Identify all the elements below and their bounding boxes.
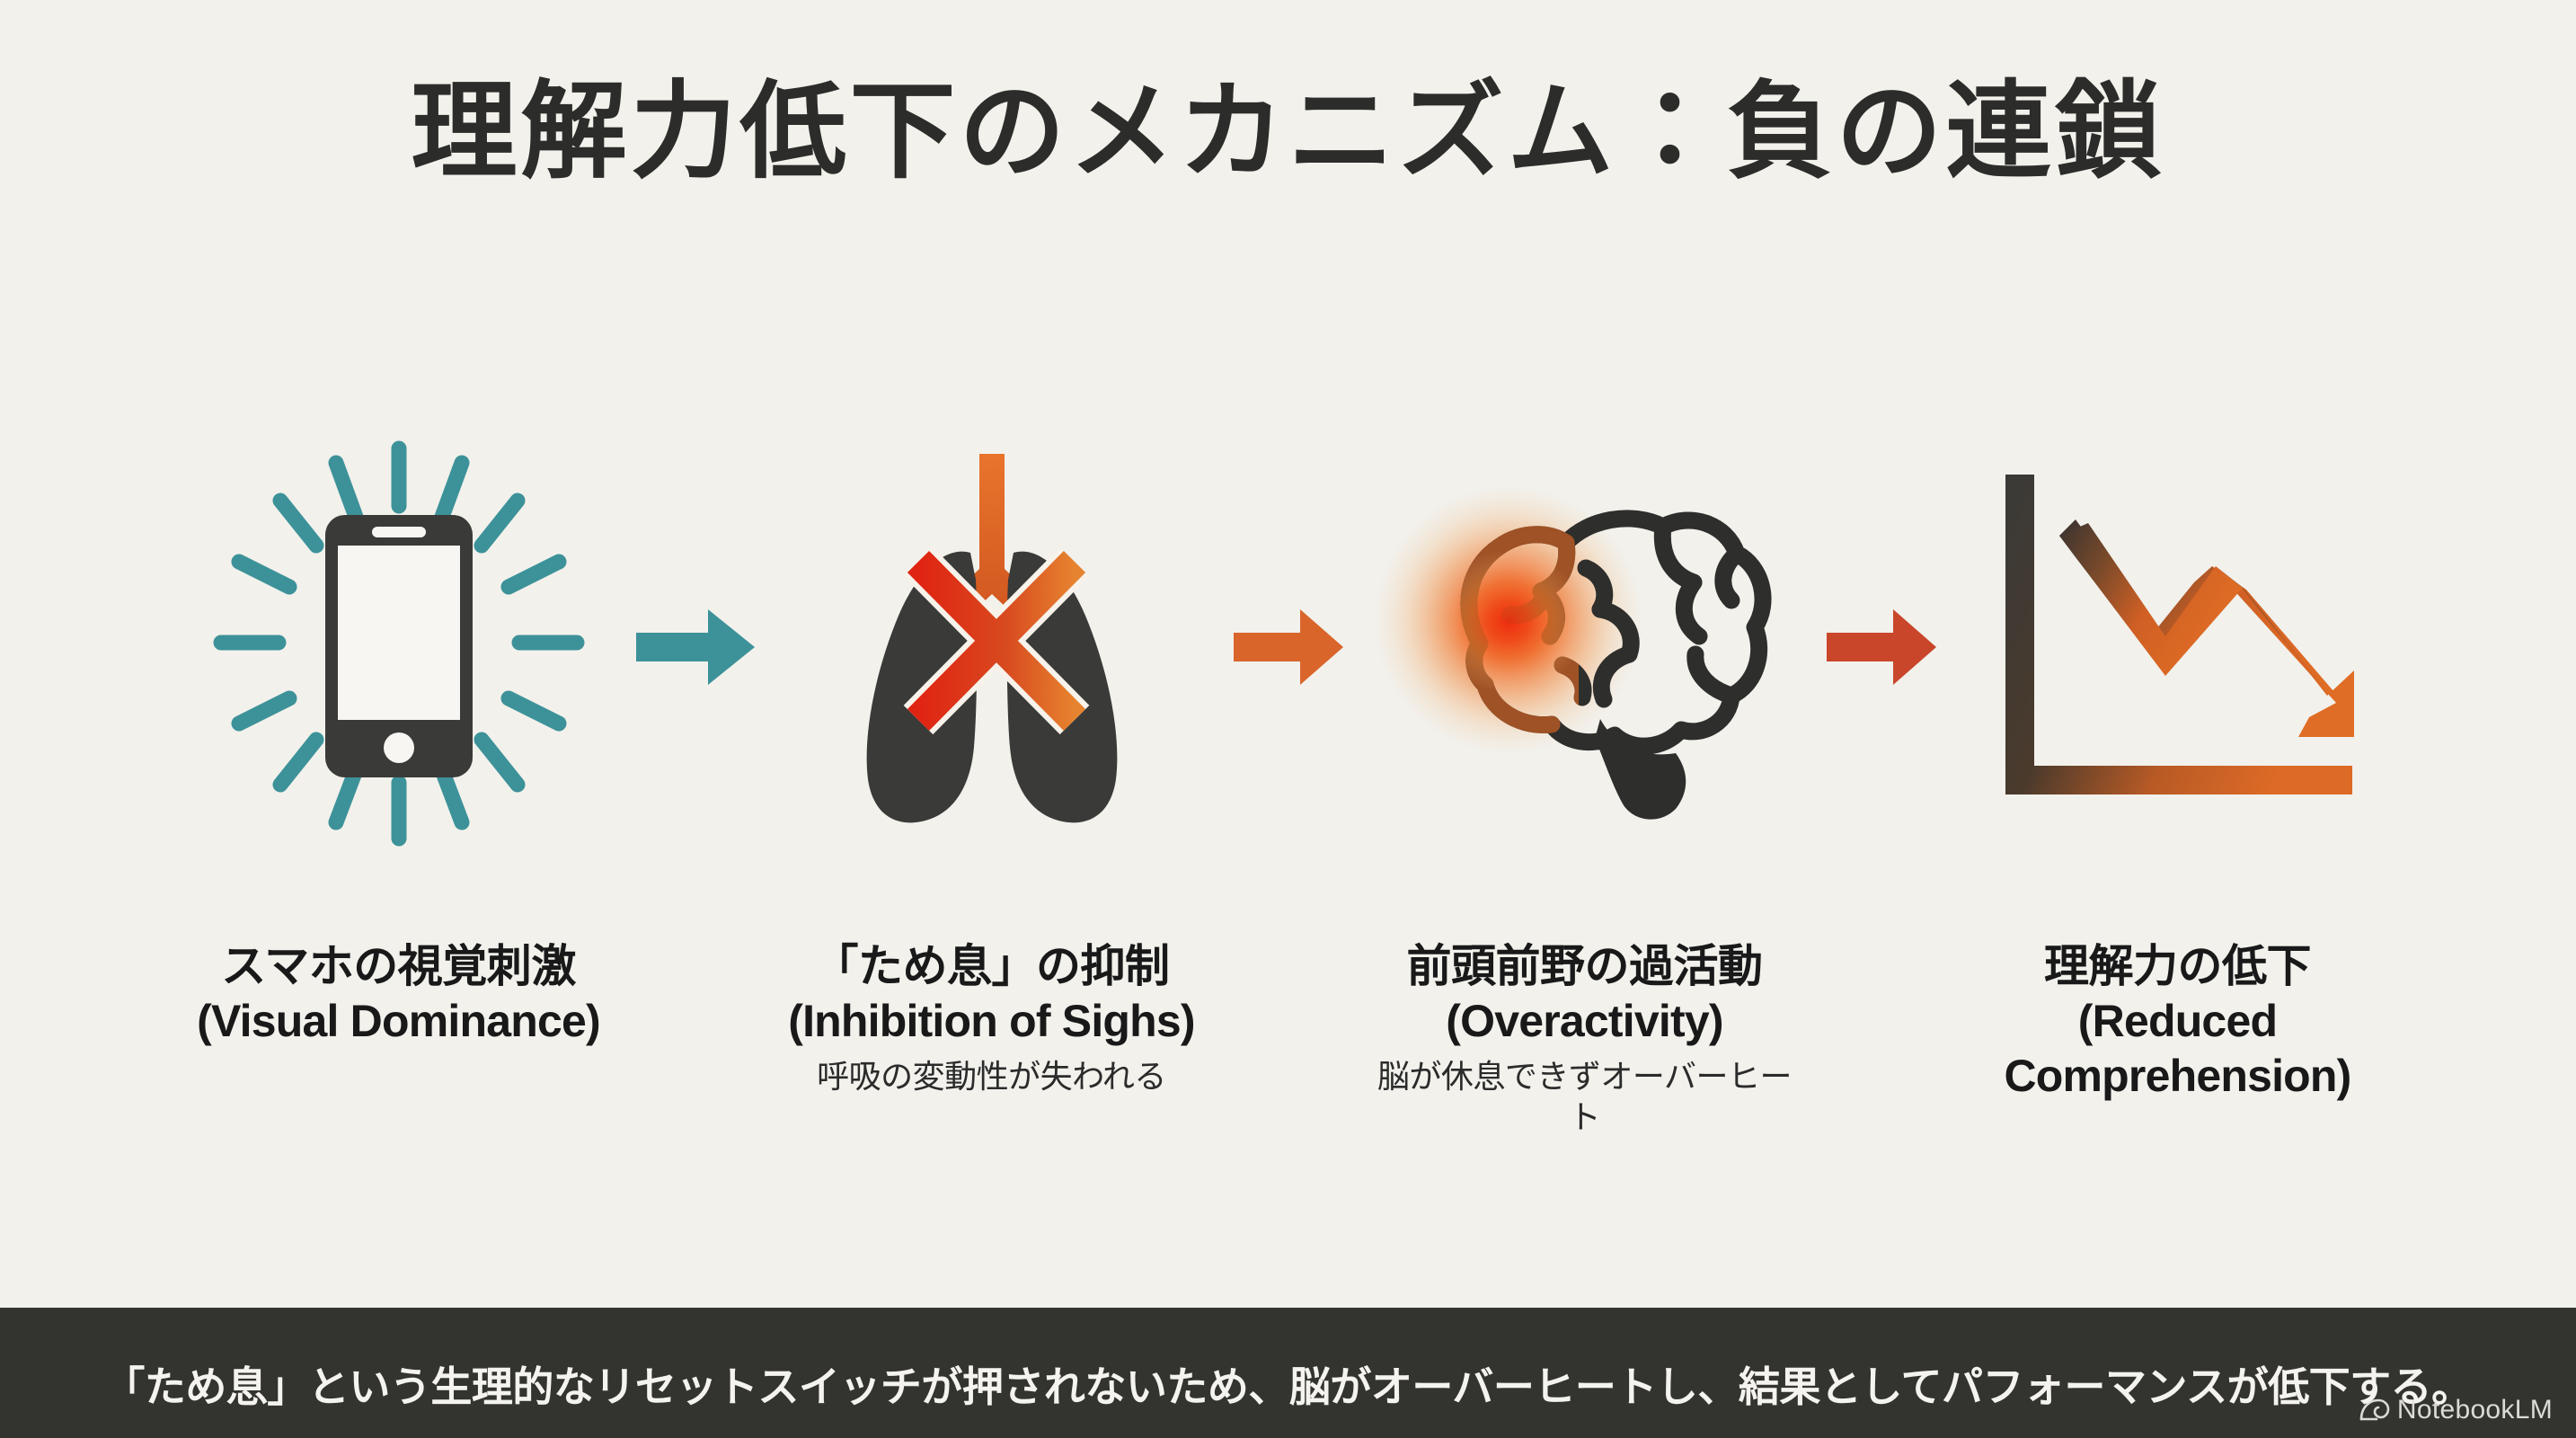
footer-bar: 「ため息」という生理的なリセットスイッチが押されないため、脳がオーバーヒートし、… <box>0 1308 2576 1438</box>
page-title: 理解力低下のメカニズム：負の連鎖 <box>0 70 2576 192</box>
arrow-right-icon <box>633 602 758 692</box>
flow-arrow-3 <box>1801 584 1962 710</box>
caption-jp-1: スマホの視覚刺激 <box>189 939 609 994</box>
flow-arrow-2 <box>1208 584 1369 710</box>
flow-arrow-1 <box>615 584 776 710</box>
footer-summary-text: 「ため息」という生理的なリセットスイッチが押されないため、脳がオーバーヒートし、… <box>103 1354 2472 1414</box>
caption-block-2: 「ため息」の抑制 (Inhibition of Sighs) 呼吸の変動性が失わ… <box>776 939 1208 1096</box>
notebooklm-spiral-icon <box>2359 1398 2389 1423</box>
caption-en-2: (Inhibition of Sighs) <box>782 994 1202 1049</box>
arrow-right-icon <box>1230 604 1347 690</box>
flow-step-2 <box>776 413 1208 881</box>
caption-row: スマホの視覚刺激 (Visual Dominance) 「ため息」の抑制 (In… <box>0 939 2576 1227</box>
flow-step-1 <box>183 413 615 881</box>
flow-step-3 <box>1369 413 1801 881</box>
overheating-brain-icon <box>1374 449 1796 845</box>
caption-en-4: (Reduced Comprehension) <box>1968 994 2388 1104</box>
caption-jp-2: 「ため息」の抑制 <box>782 939 1202 994</box>
watermark: NotebookLM <box>2359 1395 2553 1425</box>
glowing-smartphone-icon <box>201 436 597 858</box>
lungs-blocked-icon <box>812 445 1172 849</box>
caption-sub-3: 脳が休息できずオーバーヒート <box>1375 1056 1795 1137</box>
declining-chart-icon <box>1989 467 2367 827</box>
caption-jp-4: 理解力の低下 <box>1968 939 2388 994</box>
caption-jp-3: 前頭前野の過活動 <box>1375 939 1795 994</box>
arrow-right-icon <box>1823 604 1940 690</box>
caption-en-1: (Visual Dominance) <box>189 994 609 1049</box>
watermark-label: NotebookLM <box>2397 1395 2553 1425</box>
caption-sub-2: 呼吸の変動性が失われる <box>782 1056 1202 1096</box>
caption-en-3: (Overactivity) <box>1375 994 1795 1049</box>
caption-block-3: 前頭前野の過活動 (Overactivity) 脳が休息できずオーバーヒート <box>1369 939 1801 1137</box>
caption-block-4: 理解力の低下 (Reduced Comprehension) <box>1962 939 2394 1104</box>
caption-block-1: スマホの視覚刺激 (Visual Dominance) <box>183 939 615 1049</box>
flow-diagram <box>0 395 2576 899</box>
flow-step-4 <box>1962 413 2394 881</box>
